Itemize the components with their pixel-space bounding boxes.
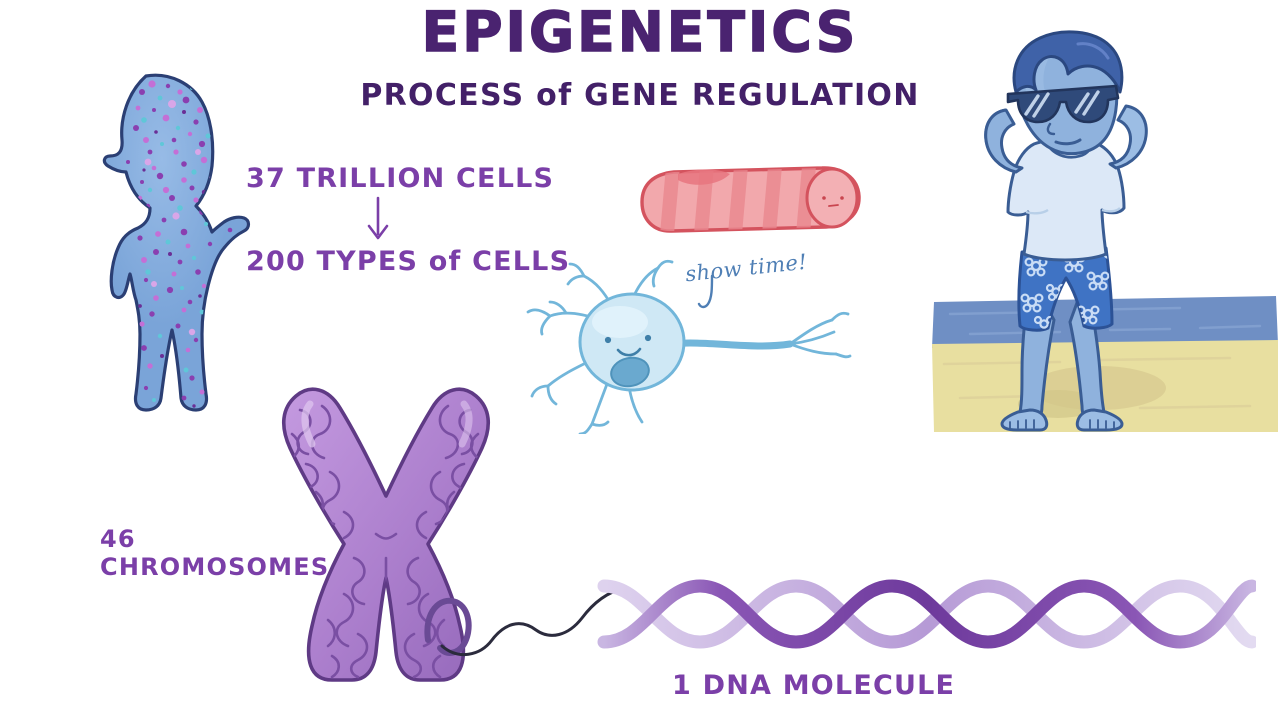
neuron-icon bbox=[500, 258, 860, 434]
label-dna-molecule: 1 DNA MOLECULE bbox=[672, 670, 955, 701]
muscle-cell-icon bbox=[626, 158, 876, 240]
label-chromosomes-word: CHROMOSOMES bbox=[100, 554, 329, 582]
human-body-silhouette-icon bbox=[84, 48, 274, 418]
label-chromosomes: 46 CHROMOSOMES bbox=[100, 526, 329, 581]
label-chromosomes-count: 46 bbox=[100, 526, 329, 554]
label-cells-count: 37 TRILLION CELLS bbox=[246, 163, 554, 194]
boy-at-beach-illustration bbox=[930, 28, 1280, 438]
illustration-canvas: EPIGENETICS PROCESS of GENE REGULATION bbox=[0, 0, 1280, 720]
down-arrow-icon bbox=[358, 196, 398, 244]
dna-double-helix-icon bbox=[596, 556, 1256, 672]
show-time-pointer-icon bbox=[694, 274, 734, 318]
